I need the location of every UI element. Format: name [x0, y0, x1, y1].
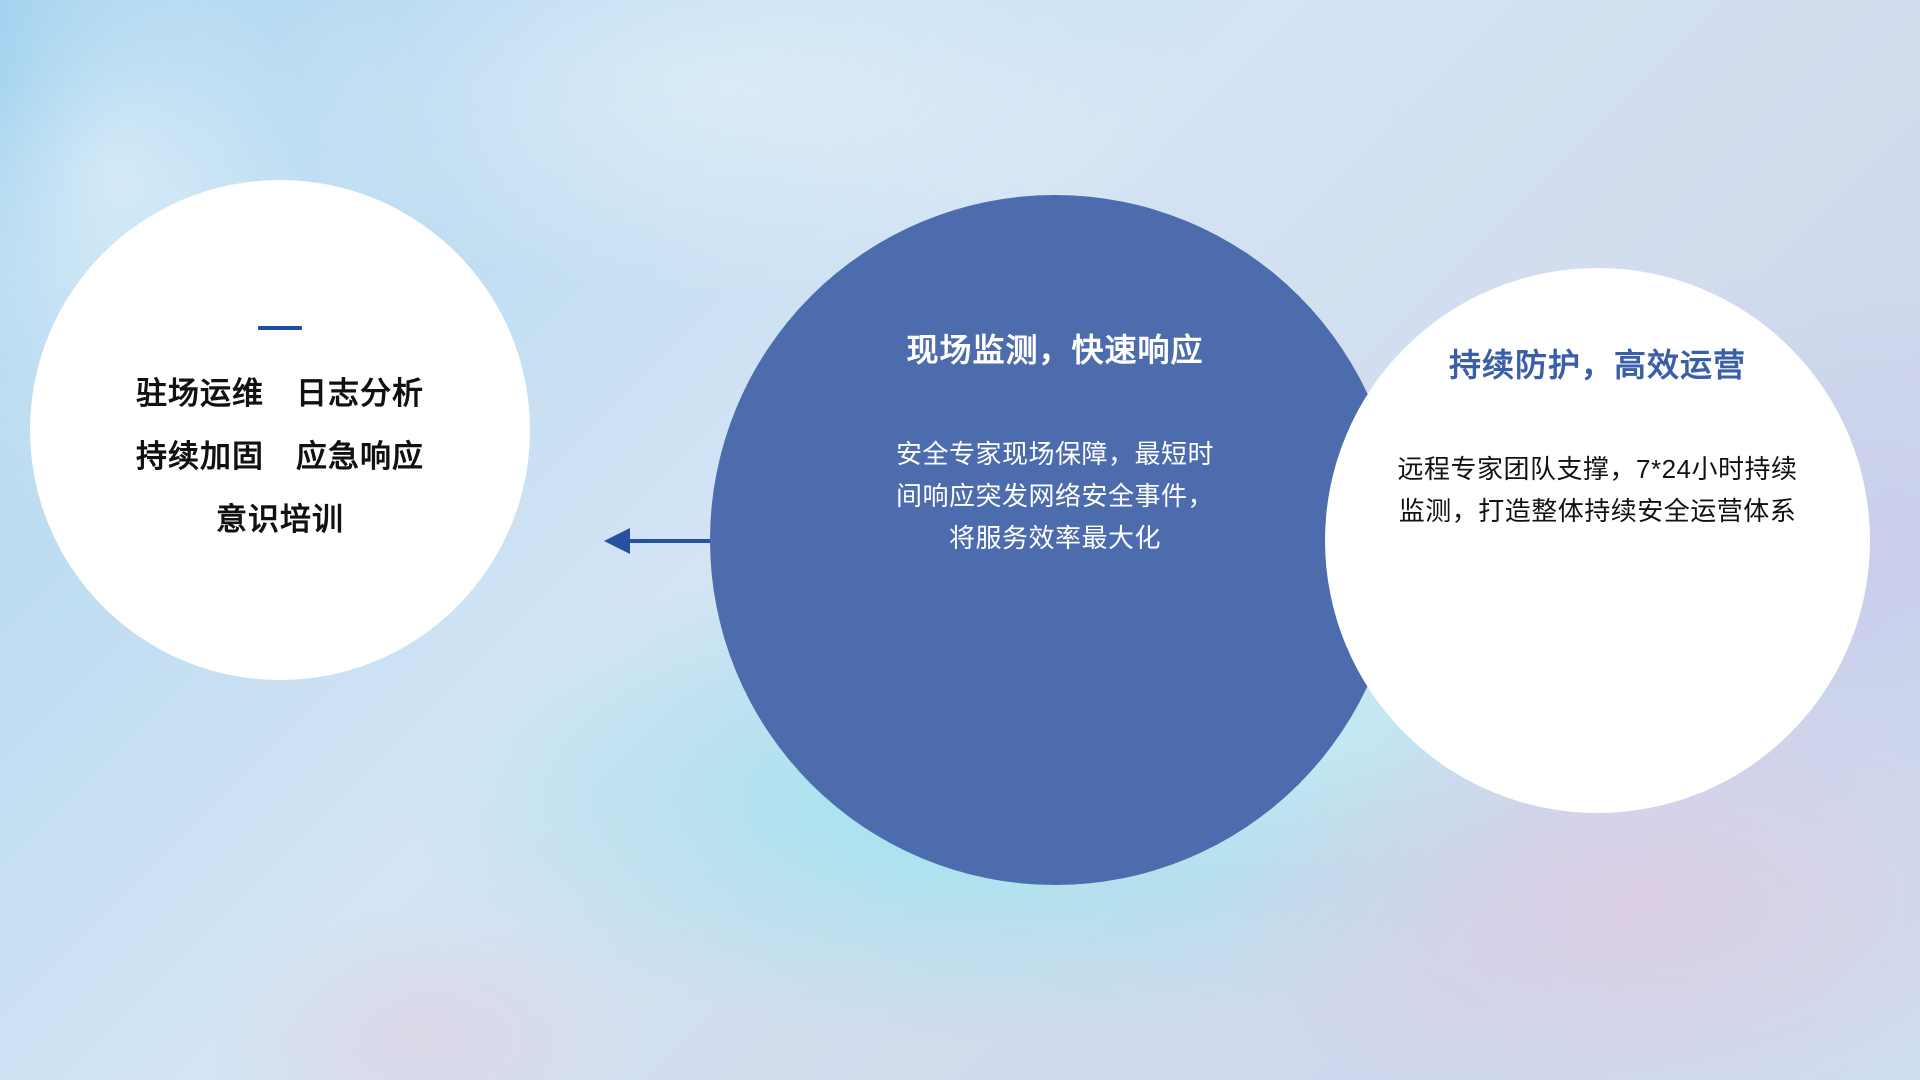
capability-line-1: 驻场运维 日志分析 — [136, 378, 424, 409]
middle-circle-body: 安全专家现场保障，最短时间响应突发网络安全事件，将服务效率最大化 — [890, 433, 1220, 559]
right-protection-circle[interactable]: 持续防护，高效运营 远程专家团队支撑，7*24小时持续监测，打造整体持续安全运营… — [1325, 268, 1870, 813]
right-circle-body: 远程专家团队支撑，7*24小时持续监测，打造整体持续安全运营体系 — [1398, 448, 1798, 532]
slide-canvas: 驻场运维 日志分析 持续加固 应急响应 意识培训 现场监测，快速响应 安全专家现… — [0, 0, 1920, 1080]
capability-line-3: 意识培训 — [216, 504, 344, 535]
middle-onsite-circle[interactable]: 现场监测，快速响应 安全专家现场保障，最短时间响应突发网络安全事件，将服务效率最… — [710, 195, 1400, 885]
middle-circle-title: 现场监测，快速响应 — [906, 325, 1203, 371]
arrow-head-icon — [604, 528, 630, 554]
right-circle-title: 持续防护，高效运营 — [1449, 340, 1746, 386]
capability-line-2: 持续加固 应急响应 — [136, 441, 424, 472]
divider-line — [258, 326, 302, 330]
left-capability-circle[interactable]: 驻场运维 日志分析 持续加固 应急响应 意识培训 — [30, 180, 530, 680]
